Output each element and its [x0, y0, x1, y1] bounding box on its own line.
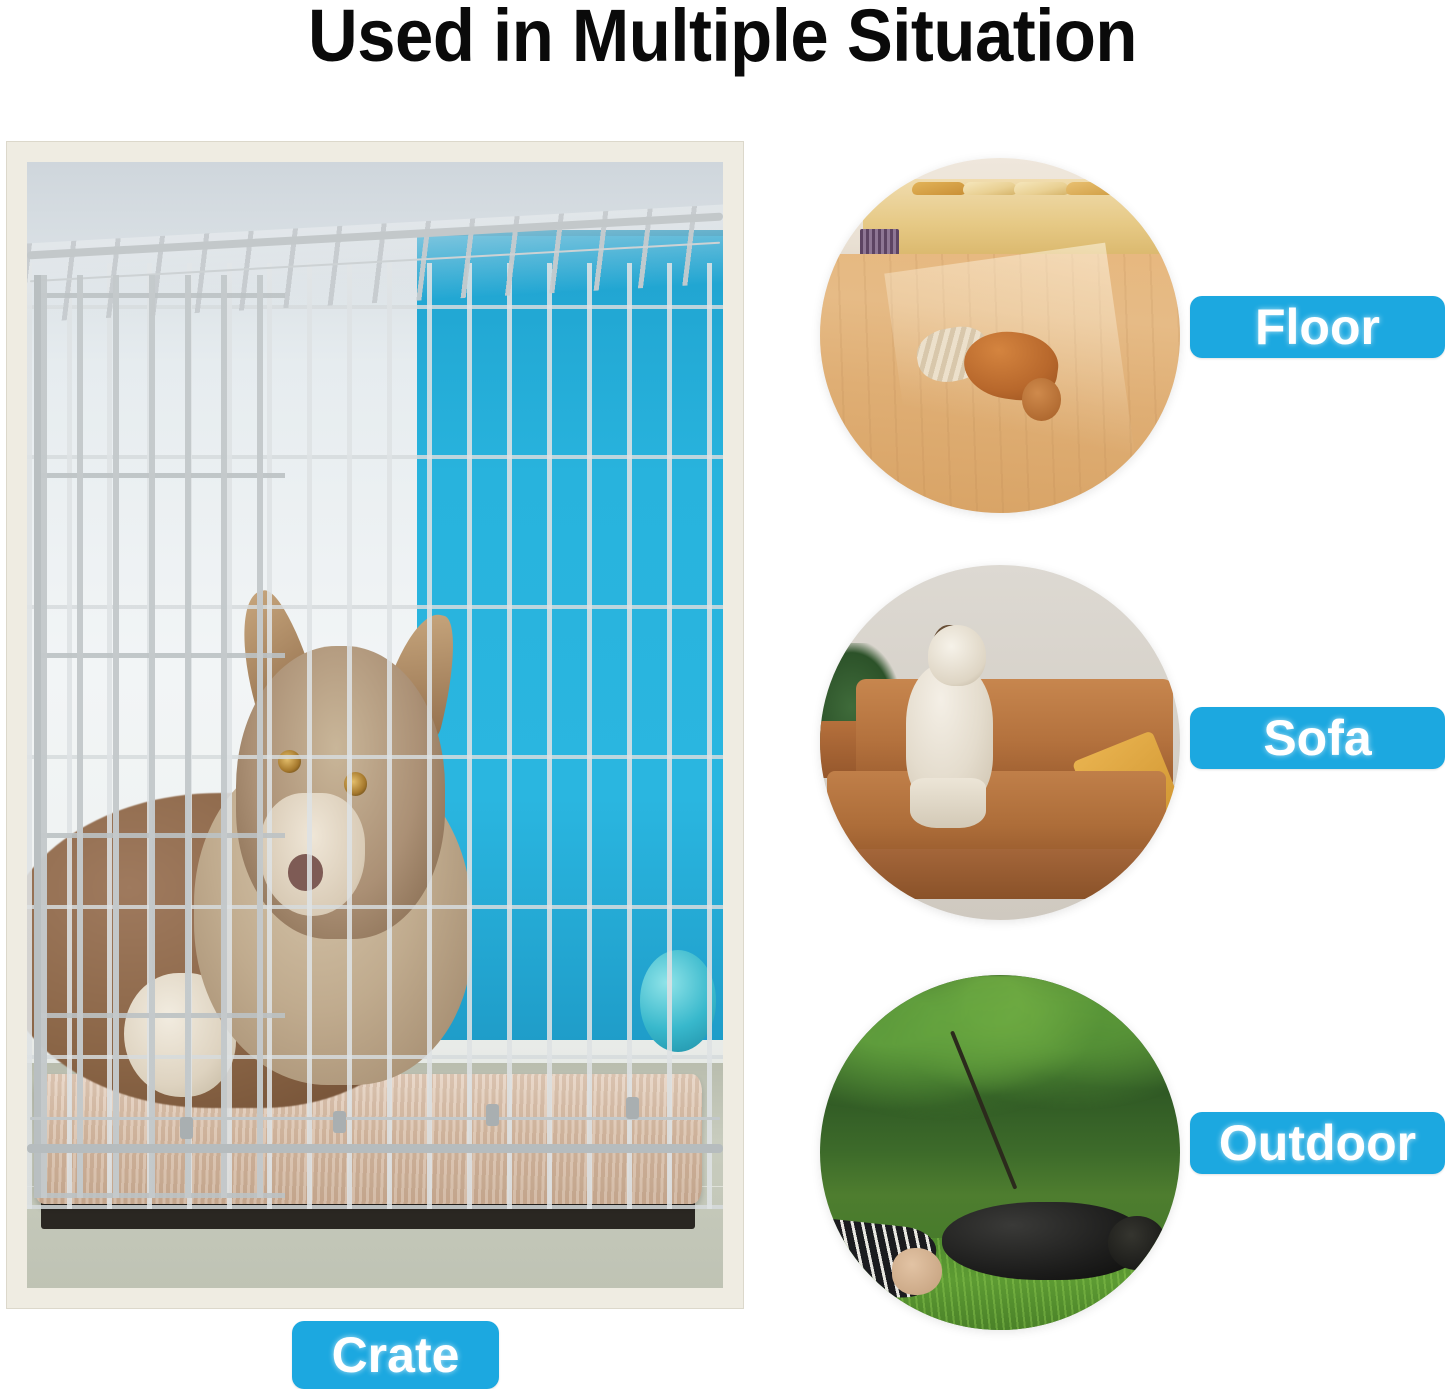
floor-scene-sofa	[863, 179, 1165, 261]
situation-thumbnail-floor	[820, 158, 1180, 513]
outdoor-person-hand	[892, 1248, 942, 1294]
toy-ball	[640, 950, 717, 1051]
sofa-scene-photo	[820, 565, 1180, 920]
situation-thumbnail-sofa	[820, 565, 1180, 920]
outdoor-scene-dog-head	[1108, 1216, 1166, 1269]
sofa-scene-dog-head	[928, 625, 986, 685]
badge-floor[interactable]: Floor	[1190, 296, 1445, 358]
dog-nose	[288, 854, 323, 890]
dog-eye-right	[344, 772, 368, 796]
outdoor-scene-photo	[820, 975, 1180, 1330]
crate-scene-photo	[27, 162, 723, 1288]
badge-crate[interactable]: Crate	[292, 1321, 499, 1389]
sofa-seat-front-edge	[827, 849, 1165, 899]
outdoor-tree-foliage	[820, 975, 1180, 1160]
badge-sofa[interactable]: Sofa	[1190, 707, 1445, 769]
sofa-cushion	[912, 182, 966, 195]
sofa-cushion	[1066, 182, 1120, 195]
badge-outdoor[interactable]: Outdoor	[1190, 1112, 1445, 1174]
page-title: Used in Multiple Situation	[51, 0, 1395, 76]
floor-scene-dog-head	[1022, 378, 1062, 421]
sofa-scene-dog-legs	[910, 778, 986, 828]
floor-scene-photo	[820, 158, 1180, 513]
situation-thumbnail-outdoor	[820, 975, 1180, 1330]
hero-photo-frame	[6, 141, 744, 1309]
sofa-cushion	[1014, 182, 1068, 195]
sofa-cushion	[963, 182, 1017, 195]
